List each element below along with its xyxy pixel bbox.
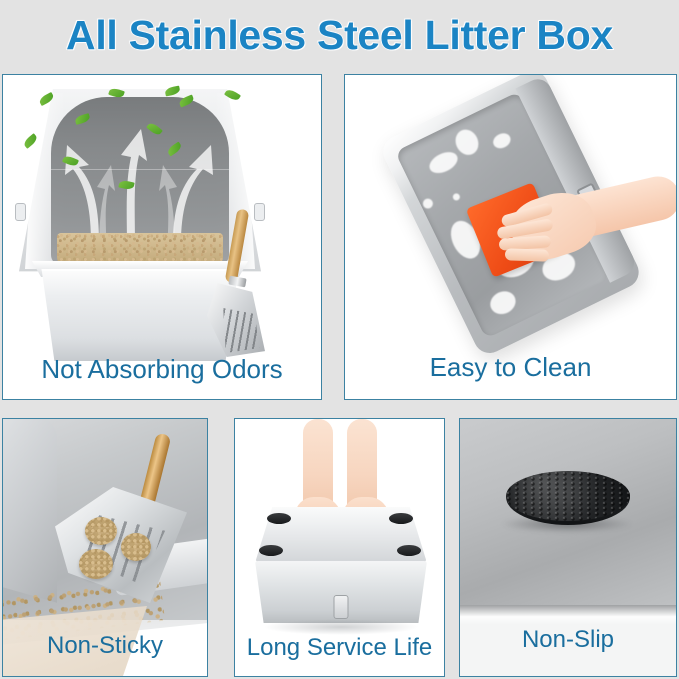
feature-panel-easy-to-clean: Easy to Clean [344,74,677,400]
rubber-foot-pad [259,545,283,556]
feature-panel-non-slip: Non-Slip [459,418,677,677]
product-infographic: All Stainless Steel Litter Box [0,0,679,679]
litter-scoop [49,433,199,617]
rubber-foot-pad [389,513,413,524]
rubber-foot-pad [267,513,291,524]
infographic-header: All Stainless Steel Litter Box [0,0,679,70]
box-latch [333,595,348,619]
hand [495,179,665,271]
panel-caption-non-slip: Non-Slip [460,626,676,654]
non-slip-rubber-pad [506,471,630,529]
rubber-foot-pad [397,545,421,556]
feature-panel-non-sticky: Non-Sticky [2,418,208,677]
feature-panel-long-service-life: Long Service Life [234,418,445,677]
finger [505,248,549,262]
feature-panel-not-absorbing-odors: Not Absorbing Odors [2,74,322,400]
litter-box-odor-illustration [3,75,321,399]
scoop-wooden-handle [225,209,250,284]
litter-clump [85,517,117,545]
litter-scoop [205,209,269,359]
panel-caption-easy-to-clean: Easy to Clean [345,352,676,383]
drop-shadow [263,619,419,635]
panel-caption-not-absorbing-odors: Not Absorbing Odors [3,354,321,385]
page-title: All Stainless Steel Litter Box [66,12,613,59]
litter-clump [121,533,151,561]
side-clip-left [15,203,26,221]
panel-caption-non-sticky: Non-Sticky [3,632,207,660]
panel-caption-long-service-life: Long Service Life [235,634,444,662]
scoop-ferrule [228,276,246,288]
litter-clump [79,549,113,579]
pad-dimple-texture [506,471,630,521]
easy-to-clean-illustration [345,75,676,399]
